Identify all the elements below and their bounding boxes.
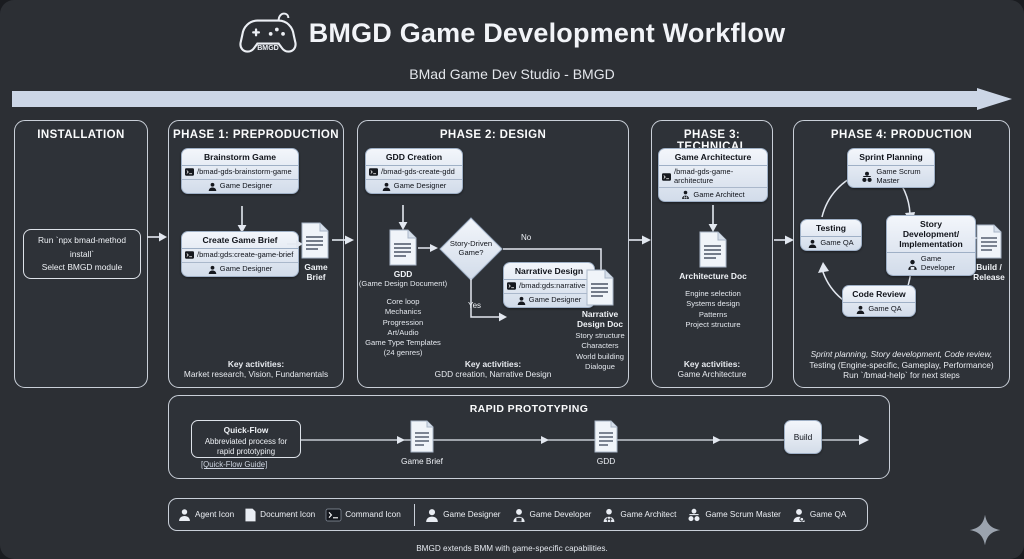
- quick-flow-guide-link[interactable]: [Quick-Flow Guide]: [201, 460, 267, 469]
- arch-item: Systems design: [686, 299, 740, 308]
- game-qa-icon: [808, 239, 817, 248]
- card-agent: Game QA: [868, 305, 901, 314]
- card-agent: Game Developer: [921, 255, 955, 272]
- gdd-item: Mechanics: [385, 307, 421, 316]
- game-designer-icon: [517, 296, 526, 305]
- legend-label: Game Developer: [530, 510, 592, 519]
- legend: Agent Icon Document Icon Command Icon Ga…: [168, 498, 868, 531]
- phase4-notes: Sprint planning, Story development, Code…: [798, 349, 1005, 381]
- agent-icon: [178, 508, 191, 521]
- arrow-install-to-phase1: [147, 230, 169, 244]
- edge-label-yes: Yes: [468, 301, 481, 310]
- legend-item-game-designer: Game Designer: [425, 508, 500, 522]
- title-line-3: Implementation: [899, 239, 963, 249]
- card-sprint-planning[interactable]: Sprint Planning Game Scrum Master: [847, 148, 935, 188]
- arrow-gddcreation-to-gdddoc: [396, 205, 410, 231]
- card-command-row[interactable]: /bmad:gds:narrative: [504, 280, 594, 294]
- legend-label: Game Scrum Master: [705, 510, 781, 519]
- legend-item-command-icon: Command Icon: [326, 509, 401, 521]
- document-icon: [245, 508, 256, 522]
- gdd-item: Core loop: [387, 297, 420, 306]
- phase1-title: PHASE 1: PREPRODUCTION: [169, 129, 343, 141]
- card-gdd-creation[interactable]: GDD Creation /bmad-gds-create-gdd Game D…: [365, 148, 463, 194]
- narrative-item: Story structure: [575, 331, 624, 340]
- arrow-architecture-to-doc: [706, 205, 720, 233]
- rapid-prototyping-title: RAPID PROTOTYPING: [169, 403, 889, 415]
- agent-line-2: Master: [876, 176, 899, 185]
- card-agent: Game Designer: [220, 182, 273, 191]
- card-title: Story Development/ Implementation: [887, 216, 975, 253]
- game-architect-icon: [681, 190, 690, 199]
- footnote: BMGD extends BMM with game-specific capa…: [0, 544, 1024, 553]
- card-agent-row: Game Scrum Master: [848, 166, 934, 187]
- installation-title: INSTALLATION: [15, 129, 147, 141]
- gamepad-icon: BMGD: [239, 10, 297, 56]
- card-title: Narrative Design: [504, 263, 594, 280]
- document-game-brief-rapid: [409, 420, 435, 454]
- card-command-row[interactable]: /bmad-gds-create-gdd: [366, 166, 462, 180]
- legend-item-agent-icon: Agent Icon: [178, 508, 234, 521]
- command-icon: [185, 168, 194, 176]
- card-agent: Game Designer: [529, 296, 582, 305]
- decision-line-1: Story-Driven: [450, 239, 492, 248]
- game-developer-icon: [907, 259, 918, 270]
- card-agent: Game QA: [820, 239, 853, 248]
- phase2-frame: PHASE 2: DESIGN GDD Creation /bmad-gds-c…: [357, 120, 629, 388]
- label-line-2: Release: [973, 272, 1005, 282]
- command-icon: [662, 173, 671, 181]
- card-title: Create Game Brief: [182, 232, 298, 249]
- card-title: Sprint Planning: [848, 149, 934, 166]
- gdd-item: Progression: [383, 318, 424, 327]
- card-agent: Game Designer: [394, 182, 447, 191]
- key-activities-label: Key activities:: [228, 359, 284, 369]
- note-line-3: Run `/bmad-help` for next steps: [843, 370, 960, 380]
- legend-label: Agent Icon: [195, 510, 234, 519]
- arch-item: Engine selection: [685, 289, 741, 298]
- card-command: /bmad-gds-brainstorm-game: [197, 168, 292, 177]
- title-line-2: Development/: [903, 229, 959, 239]
- narrative-item: Characters: [581, 341, 618, 350]
- rapid-step-1-label: Game Brief: [386, 456, 458, 466]
- label-line-2: Brief: [306, 272, 325, 282]
- legend-item-document-icon: Document Icon: [245, 508, 315, 522]
- arch-item: Patterns: [699, 310, 727, 319]
- card-command-row[interactable]: /bmad-gds-brainstorm-game: [182, 166, 298, 180]
- card-command: /bmad-gds-game-architecture: [674, 168, 764, 185]
- legend-label: Document Icon: [260, 510, 315, 519]
- gdd-item: (24 genres): [384, 348, 423, 357]
- document-architecture-items: Engine selection Systems design Patterns…: [658, 289, 768, 330]
- arrow-gdd-to-decision: [418, 241, 440, 255]
- game-designer-icon: [208, 265, 217, 274]
- game-designer-icon: [425, 508, 439, 522]
- decision-line-2: Game?: [459, 248, 484, 257]
- document-gdd-label: GDD: [367, 269, 439, 279]
- note-line-2: Testing (Engine-specific, Gameplay, Perf…: [809, 360, 993, 370]
- legend-item-game-developer: Game Developer: [512, 508, 592, 522]
- card-agent-row: Game Designer: [182, 180, 298, 193]
- game-designer-icon: [208, 182, 217, 191]
- document-build-release: [975, 224, 1003, 260]
- legend-item-game-qa: Game QA: [792, 508, 846, 522]
- label-line-2: Design Doc: [577, 319, 623, 329]
- installation-frame: INSTALLATION Run `npx bmad-method instal…: [14, 120, 148, 388]
- card-agent-row: Game QA: [801, 237, 861, 250]
- game-architect-icon: [602, 508, 616, 522]
- card-testing[interactable]: Testing Game QA: [800, 219, 862, 251]
- page-subtitle: BMad Game Dev Studio - BMGD: [0, 66, 1024, 82]
- quick-flow-title: Quick-Flow: [224, 425, 269, 435]
- document-game-brief: [300, 222, 330, 260]
- card-command: /bmad:gds:create-game-brief: [197, 251, 293, 260]
- card-agent-row: Game Designer: [504, 294, 594, 307]
- arrow-phase2-to-phase3: [629, 233, 653, 247]
- phase4-title: PHASE 4: PRODUCTION: [794, 129, 1009, 141]
- card-agent-row: Game QA: [843, 303, 915, 316]
- phase3-key-activities: Key activities: Game Architecture: [656, 359, 768, 380]
- phase3-frame: PHASE 3: TECHNICAL Game Architecture /bm…: [651, 120, 773, 388]
- card-game-architecture[interactable]: Game Architecture /bmad-gds-game-archite…: [658, 148, 768, 202]
- document-gdd-items: Core loop Mechanics Progression Art/Audi…: [348, 297, 458, 359]
- document-architecture: [698, 231, 728, 269]
- command-icon: [185, 251, 194, 259]
- game-scrum-master-icon: [861, 171, 873, 183]
- install-line-2: Select BMGD module: [42, 261, 123, 274]
- command-icon: [369, 168, 378, 176]
- game-qa-icon: [792, 508, 806, 522]
- decision-label: Story-Driven Game?: [440, 239, 502, 258]
- install-line-1: Run `npx bmad-method install`: [28, 234, 136, 260]
- document-gdd: [388, 229, 418, 267]
- command-icon: [507, 282, 516, 290]
- title-line-1: Story: [920, 219, 942, 229]
- progress-arrow: [12, 88, 1012, 110]
- card-command-row[interactable]: /bmad-gds-game-architecture: [659, 166, 767, 188]
- card-narrative-design[interactable]: Narrative Design /bmad:gds:narrative Gam…: [503, 262, 595, 308]
- key-activities-label: Key activities:: [684, 359, 740, 369]
- document-game-brief-label: Game Brief: [280, 262, 352, 282]
- card-title: Testing: [801, 220, 861, 237]
- card-title: Brainstorm Game: [182, 149, 298, 166]
- card-code-review[interactable]: Code Review Game QA: [842, 285, 916, 317]
- label-line-1: Game: [304, 262, 327, 272]
- label-line-1: Narrative: [582, 309, 618, 319]
- phase2-title: PHASE 2: DESIGN: [358, 129, 628, 141]
- card-title: GDD Creation: [366, 149, 462, 166]
- card-agent-row: Game Architect: [659, 188, 767, 201]
- build-box[interactable]: Build: [784, 420, 822, 454]
- legend-label: Game QA: [810, 510, 846, 519]
- card-command-row[interactable]: /bmad:gds:create-game-brief: [182, 249, 298, 263]
- edge-label-no: No: [521, 233, 531, 242]
- card-title: Game Architecture: [659, 149, 767, 166]
- document-build-release-label: Build / Release: [953, 262, 1024, 282]
- legend-label: Command Icon: [345, 510, 401, 519]
- key-activities-label: Key activities:: [465, 359, 521, 369]
- game-scrum-master-icon: [687, 508, 701, 522]
- game-qa-icon: [856, 305, 865, 314]
- label-line-1: Build /: [976, 262, 1002, 272]
- quick-flow-desc-2: rapid prototyping: [217, 447, 275, 456]
- legend-label: Game Architect: [620, 510, 676, 519]
- card-brainstorm-game[interactable]: Brainstorm Game /bmad-gds-brainstorm-gam…: [181, 148, 299, 194]
- legend-divider: [414, 504, 415, 526]
- card-agent-row: Game Designer: [366, 180, 462, 193]
- page-title: BMGD Game Development Workflow: [309, 18, 786, 49]
- game-designer-icon: [382, 182, 391, 191]
- arrow-brainstorm-to-brief: [235, 206, 249, 234]
- note-line-1: Sprint planning, Story development, Code…: [811, 349, 993, 359]
- document-gdd-rapid: [593, 420, 619, 454]
- agent-line-2: Developer: [921, 263, 955, 272]
- gamepad-logo-text: BMGD: [257, 45, 279, 52]
- legend-item-game-scrum-master: Game Scrum Master: [687, 508, 781, 522]
- sparkle-icon: [968, 513, 1002, 547]
- phase1-key-activities: Key activities: Market research, Vision,…: [173, 359, 339, 380]
- card-command: /bmad-gds-create-gdd: [381, 168, 455, 177]
- document-narrative-label: Narrative Design Doc: [564, 309, 636, 329]
- arch-item: Project structure: [685, 320, 740, 329]
- key-activities-text: GDD creation, Narrative Design: [435, 369, 552, 379]
- document-architecture-label: Architecture Doc: [677, 271, 749, 281]
- rapid-prototyping-frame: RAPID PROTOTYPING Quick-Flow Abbreviated…: [168, 395, 890, 479]
- rapid-step-2-label: GDD: [570, 456, 642, 466]
- phase2-key-activities: Key activities: GDD creation, Narrative …: [388, 359, 598, 380]
- key-activities-text: Game Architecture: [678, 369, 747, 379]
- card-agent: Game Designer: [220, 265, 273, 274]
- document-narrative-design: [585, 269, 615, 307]
- gdd-item: Art/Audio: [387, 328, 418, 337]
- gdd-item: Game Type Templates: [365, 338, 441, 347]
- card-title: Code Review: [843, 286, 915, 303]
- header: BMGD BMGD Game Development Workflow BMad…: [0, 10, 1024, 82]
- key-activities-text: Market research, Vision, Fundamentals: [184, 369, 328, 379]
- card-agent: Game Scrum Master: [876, 168, 920, 185]
- card-agent: Game Architect: [693, 191, 744, 200]
- game-developer-icon: [512, 508, 526, 522]
- build-label: Build: [794, 432, 813, 442]
- legend-label: Game Designer: [443, 510, 500, 519]
- quick-flow-desc-1: Abbreviated process for: [205, 437, 287, 446]
- legend-item-game-architect: Game Architect: [602, 508, 676, 522]
- arrow-phase1-to-phase2: [332, 233, 356, 247]
- card-command: /bmad:gds:narrative: [519, 282, 585, 291]
- install-instructions: Run `npx bmad-method install` Select BMG…: [23, 229, 141, 279]
- command-icon: [326, 509, 341, 521]
- diagram-canvas: BMGD BMGD Game Development Workflow BMad…: [0, 0, 1024, 559]
- quick-flow-box: Quick-Flow Abbreviated process for rapid…: [191, 420, 301, 458]
